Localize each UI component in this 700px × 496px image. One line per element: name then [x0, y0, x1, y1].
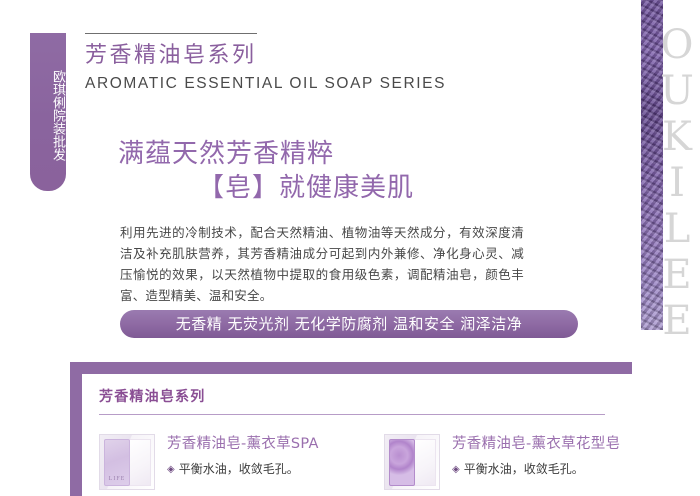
- product-desc: 平衡水油，收敛毛孔。: [464, 462, 584, 476]
- body-paragraph: 利用先进的冷制技术，配合天然精油、植物油等天然成分，有效深度清洁及补充肌肤营养，…: [120, 222, 524, 306]
- product-name: 芳香精油皂-薰衣草SPA: [167, 433, 367, 455]
- product-desc-row: ◈平衡水油，收敛毛孔。: [452, 459, 652, 480]
- header-block: 芳香精油皂系列 AROMATIC ESSENTIAL OIL SOAP SERI…: [85, 33, 505, 95]
- product-text-block: 芳香精油皂-薰衣草花型皂 ◈平衡水油，收敛毛孔。: [452, 433, 652, 480]
- product-card-title: 芳香精油皂系列: [99, 388, 205, 406]
- product-thumbnail: [384, 434, 440, 490]
- header-title-cn: 芳香精油皂系列: [85, 42, 505, 70]
- product-package-icon: [129, 439, 151, 486]
- brand-wordmark: OUKILEE: [606, 22, 698, 322]
- headline-line-1: 满蕴天然芳香精粹: [118, 137, 548, 171]
- headline-block: 满蕴天然芳香精粹 【皂】就健康美肌: [118, 137, 548, 205]
- diamond-bullet-icon: ◈: [167, 464, 175, 475]
- lavender-soap-bar-icon: LIFE: [104, 439, 130, 486]
- feature-bar: 无香精 无荧光剂 无化学防腐剂 温和安全 润泽洁净: [120, 310, 578, 338]
- product-desc: 平衡水油，收敛毛孔。: [179, 462, 299, 476]
- poster-root: 欧琪俐院装批发 芳香精油皂系列 AROMATIC ESSENTIAL OIL S…: [0, 0, 700, 496]
- soap-embossed-label: LIFE: [105, 476, 129, 482]
- rose-soap-bar-icon: [389, 439, 415, 486]
- product-card-title-rule: [99, 414, 605, 415]
- product-package-icon: [414, 439, 436, 486]
- product-item[interactable]: 芳香精油皂-薰衣草花型皂 ◈平衡水油，收敛毛孔。: [384, 433, 644, 491]
- diamond-bullet-icon: ◈: [452, 464, 460, 475]
- product-text-block: 芳香精油皂-薰衣草SPA ◈平衡水油，收敛毛孔。: [167, 433, 367, 480]
- product-name: 芳香精油皂-薰衣草花型皂: [452, 433, 652, 455]
- header-rule: [85, 33, 257, 34]
- brand-side-tab: 欧琪俐院装批发: [30, 33, 66, 191]
- header-title-en: AROMATIC ESSENTIAL OIL SOAP SERIES: [85, 73, 505, 95]
- product-desc-row: ◈平衡水油，收敛毛孔。: [167, 459, 367, 480]
- product-item[interactable]: LIFE 芳香精油皂-薰衣草SPA ◈平衡水油，收敛毛孔。: [99, 433, 359, 491]
- brand-side-tab-label: 欧琪俐院装批发: [30, 50, 66, 180]
- headline-line-2: 【皂】就健康美肌: [118, 171, 548, 205]
- product-thumbnail: LIFE: [99, 434, 155, 490]
